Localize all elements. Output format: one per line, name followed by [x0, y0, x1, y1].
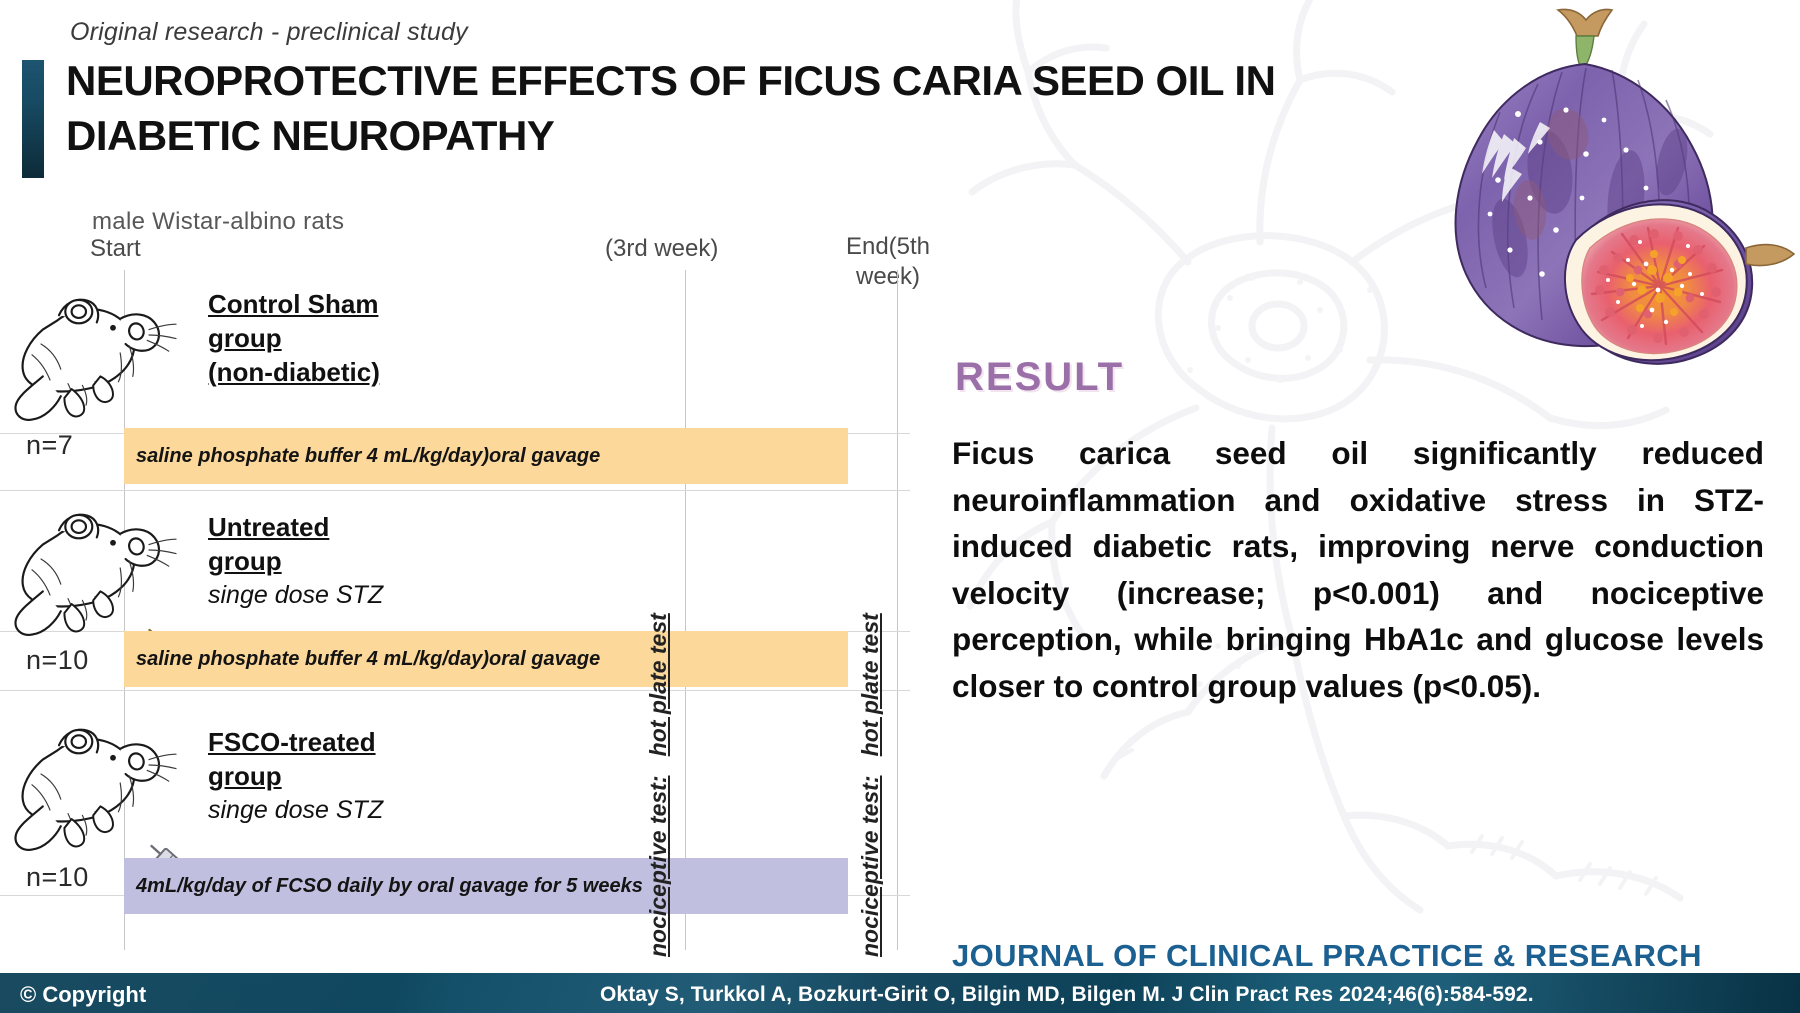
group-detail: singe dose STZ [208, 794, 548, 827]
test-prefix: nociceptive test: [857, 776, 883, 958]
group-name-line1: Untreated [208, 511, 548, 545]
treatment-text: saline phosphate buffer 4 mL/kg/day)oral… [124, 648, 600, 671]
title-accent-bar [22, 60, 44, 178]
group-n-label: n=10 [26, 862, 89, 893]
group-n-label: n=10 [26, 645, 89, 676]
treatment-text: 4mL/kg/day of FCSO daily by oral gavage … [124, 875, 643, 898]
page-title: NEUROPROTECTIVE EFFECTS OF FICUS CARIA S… [66, 53, 1366, 164]
timeline-row-untreated: n=10 Untreated group singe dose STZ sali… [0, 487, 910, 690]
group-name-line1: FSCO-treated [208, 726, 548, 760]
nociceptive-test-label-week5: nociceptive test: hot plate test [857, 613, 884, 957]
journal-name: JOURNAL OF CLINICAL PRACTICE & RESEARCH [952, 938, 1702, 974]
group-name-line1: Control Sham [208, 288, 548, 322]
group-name-line2: group [208, 545, 548, 579]
timeline-row-control-sham: n=7 Control Sham group (non-diabetic) sa… [0, 280, 910, 487]
rat-illustration [5, 290, 185, 425]
timeline-label-week3: (3rd week) [605, 234, 718, 264]
group-title-fsco-treated: FSCO-treated group singe dose STZ [208, 726, 548, 826]
group-detail: singe dose STZ [208, 579, 548, 612]
treatment-bar-untreated: saline phosphate buffer 4 mL/kg/day)oral… [124, 631, 848, 687]
nociceptive-test-label-week3: nociceptive test: hot plate test [645, 613, 672, 957]
fig-fruit-illustration [1390, 2, 1800, 372]
study-subject-label: male Wistar-albino rats [92, 208, 344, 236]
group-title-untreated: Untreated group singe dose STZ [208, 511, 548, 611]
footer-bar: © Copyright Oktay S, Turkkol A, Bozkurt-… [0, 973, 1800, 1013]
group-n-label: n=7 [26, 430, 73, 461]
group-name-line2: group [208, 322, 548, 356]
timeline-label-start: Start [90, 234, 141, 264]
result-text: Ficus carica seed oil significantly redu… [952, 430, 1764, 710]
test-suffix: hot plate test [857, 613, 883, 756]
study-timeline: Start (3rd week) End(5th week) [0, 250, 910, 950]
group-title-control-sham: Control Sham group (non-diabetic) [208, 288, 548, 389]
treatment-text: saline phosphate buffer 4 mL/kg/day)oral… [124, 445, 600, 468]
result-heading: RESULT [955, 355, 1124, 400]
treatment-bar-control-sham: saline phosphate buffer 4 mL/kg/day)oral… [124, 428, 848, 484]
treatment-bar-fsco-treated: 4mL/kg/day of FCSO daily by oral gavage … [124, 858, 848, 914]
article-type-kicker: Original research - preclinical study [70, 18, 468, 47]
group-name-line2: group [208, 760, 548, 794]
copyright-label: © Copyright [20, 982, 146, 1008]
group-name-line3: (non-diabetic) [208, 356, 548, 390]
test-prefix: nociceptive test: [645, 776, 671, 958]
test-suffix: hot plate test [645, 613, 671, 756]
timeline-row-fsco-treated: n=10 FSCO-treated group singe dose STZ 4… [0, 690, 910, 920]
citation-text: Oktay S, Turkkol A, Bozkurt-Girit O, Bil… [600, 983, 1534, 1007]
